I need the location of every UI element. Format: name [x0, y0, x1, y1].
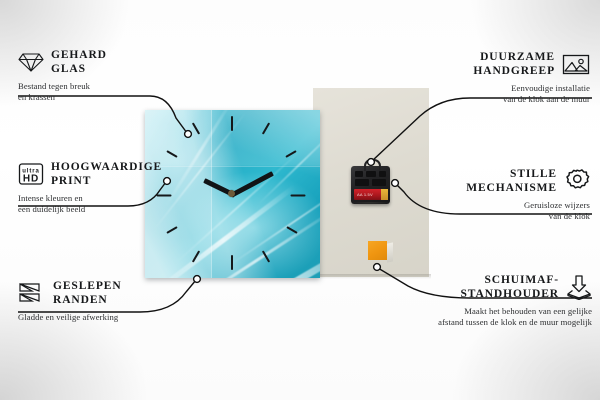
- feature-title: GESLEPEN RANDEN: [53, 279, 122, 307]
- down-arrow-spacer-icon: [566, 274, 592, 300]
- connector-endpoint-handgreep: [368, 159, 375, 166]
- product-infographic: AA 1.5V: [0, 0, 600, 400]
- feature-gehard-glas: GEHARD GLAS Bestand tegen breuk en krass…: [18, 48, 208, 103]
- hatched-edge-icon: [18, 282, 46, 304]
- feature-heading: ultra HD HOOGWAARDIGE PRINT: [18, 160, 208, 188]
- feature-heading: STILLE MECHANISME: [395, 167, 590, 195]
- feature-title: HOOGWAARDIGE PRINT: [51, 160, 162, 188]
- feature-geslepen-randen: GESLEPEN RANDEN Gladde en veilige afwerk…: [18, 279, 213, 323]
- feature-description: Gladde en veilige afwerking: [18, 312, 213, 323]
- ultra-hd-icon-bottom-text: HD: [23, 174, 39, 185]
- connector-handgreep: [372, 98, 592, 161]
- feature-schuimafstandhouder: SCHUIMAF- STANDHOUDER Maakt het behouden…: [352, 273, 592, 328]
- feature-description: Eenvoudige installatie van de klok aan d…: [385, 83, 590, 105]
- feature-description: Geruisloze wijzers van de klok: [395, 200, 590, 222]
- connector-endpoint-schuim: [374, 264, 381, 271]
- feature-description: Intense kleuren en een duidelijk beeld: [18, 193, 208, 215]
- connector-endpoint-gehard-glas: [185, 131, 192, 138]
- feature-title: SCHUIMAF- STANDHOUDER: [460, 273, 559, 301]
- feature-description: Maakt het behouden van een gelijke afsta…: [352, 306, 592, 328]
- feature-stille-mechanisme: STILLE MECHANISME Geruisloze wijzers van…: [395, 167, 590, 222]
- picture-frame-icon: [562, 53, 590, 76]
- ultra-hd-icon: ultra HD: [18, 162, 44, 186]
- feature-heading: SCHUIMAF- STANDHOUDER: [352, 273, 592, 301]
- feature-heading: GESLEPEN RANDEN: [18, 279, 213, 307]
- feature-heading: DUURZAME HANDGREEP: [385, 50, 590, 78]
- diamond-icon: [18, 51, 44, 73]
- feature-heading: GEHARD GLAS: [18, 48, 208, 76]
- gear-icon: [564, 168, 590, 194]
- feature-title: DUURZAME HANDGREEP: [473, 50, 555, 78]
- feature-description: Bestand tegen breuk en krassen: [18, 81, 208, 103]
- feature-title: STILLE MECHANISME: [466, 167, 557, 195]
- feature-duurzame-handgreep: DUURZAME HANDGREEP Eenvoudige installati…: [385, 50, 590, 105]
- feature-title: GEHARD GLAS: [51, 48, 107, 76]
- feature-hoogwaardige-print: ultra HD HOOGWAARDIGE PRINT Intense kleu…: [18, 160, 208, 215]
